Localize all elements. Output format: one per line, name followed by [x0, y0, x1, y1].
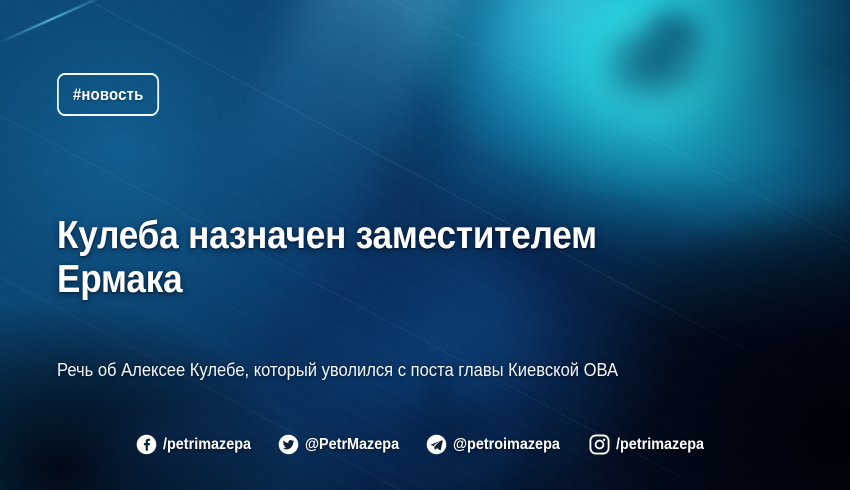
social-link-telegram[interactable]: @petroimazepa: [426, 434, 572, 455]
social-link-facebook[interactable]: /petrimazepa: [136, 434, 261, 455]
telegram-icon: [426, 434, 447, 455]
twitter-icon: [278, 434, 299, 455]
news-card: #новость Кулеба назначен заместителем Ер…: [0, 0, 850, 490]
subtitle: Речь об Алексее Кулебе, который уволился…: [57, 358, 738, 382]
card-content: #новость Кулеба назначен заместителем Ер…: [0, 0, 850, 490]
social-handle-telegram: @petroimazepa: [453, 436, 560, 454]
instagram-icon: [589, 434, 610, 455]
social-handle-instagram: /petrimazepa: [616, 436, 704, 454]
facebook-icon: [136, 434, 157, 455]
social-link-twitter[interactable]: @PetrMazepa: [278, 434, 410, 455]
social-handle-facebook: /petrimazepa: [163, 436, 251, 454]
social-link-instagram[interactable]: /petrimazepa: [589, 434, 714, 455]
social-handle-twitter: @PetrMazepa: [305, 436, 399, 454]
category-tag-badge[interactable]: #новость: [57, 73, 159, 116]
page-title: Кулеба назначен заместителем Ермака: [57, 214, 723, 302]
social-links-bar: /petrimazepa @PetrMazepa @petroimazepa: [0, 434, 850, 455]
